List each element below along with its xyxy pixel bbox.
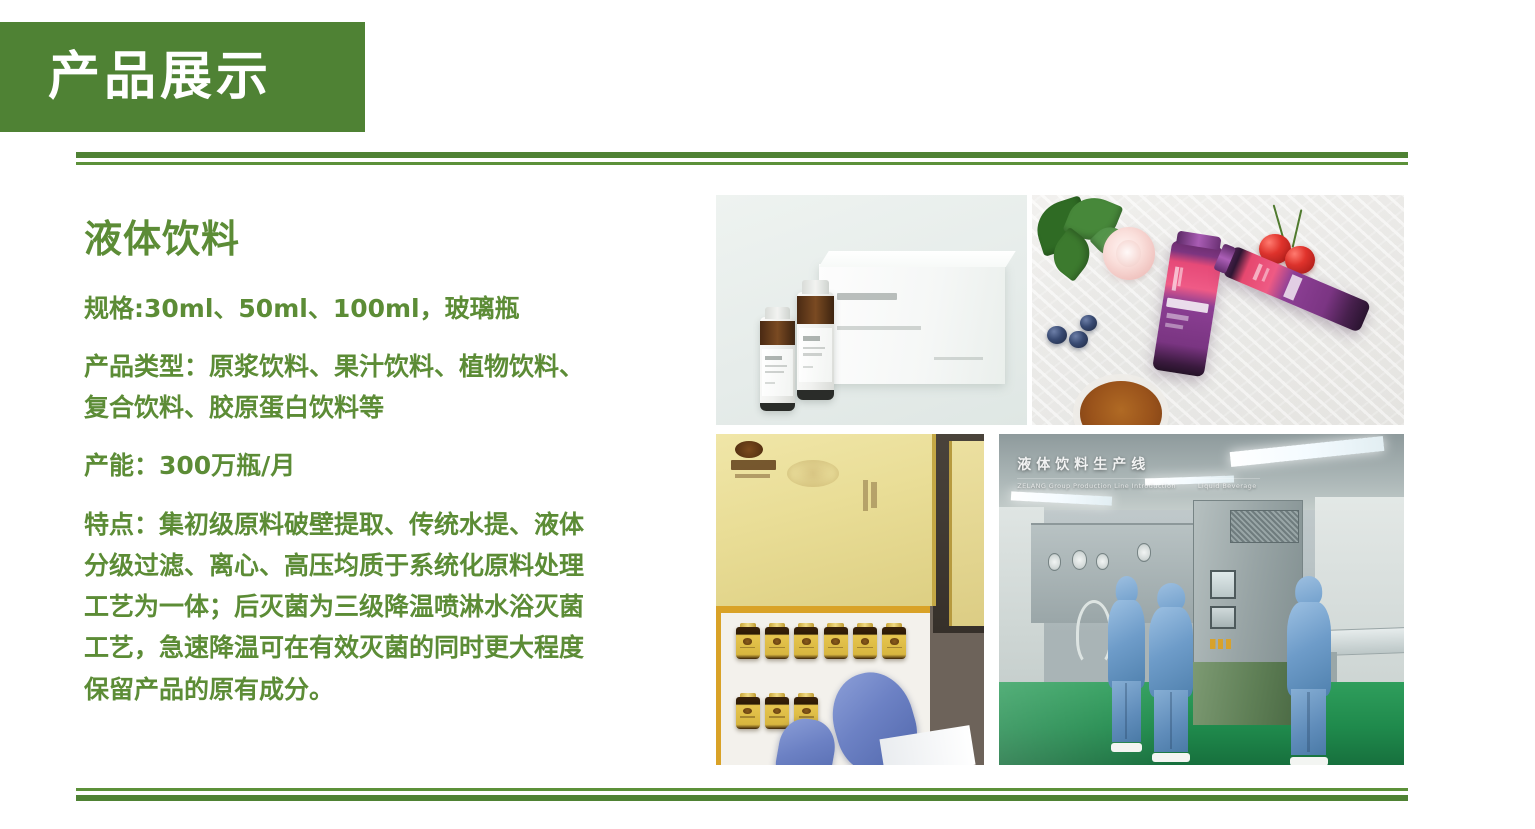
gold-bottle — [824, 627, 848, 659]
bottle-cap — [886, 623, 902, 628]
white-gift-box — [819, 264, 1006, 384]
worker-in-coverall — [1287, 576, 1332, 758]
overlay-divider-rule — [1017, 478, 1260, 479]
worker-in-coverall — [1149, 583, 1194, 755]
bottle-base — [760, 403, 796, 411]
label-dosage-band — [1283, 275, 1302, 302]
blueberry — [1080, 315, 1097, 331]
divider-top — [76, 152, 1408, 165]
pink-rose — [1103, 227, 1155, 280]
label-text-block — [1167, 314, 1189, 322]
worker-torso — [1149, 607, 1194, 696]
giftbox-inspection-photo — [716, 434, 984, 765]
collagen-drink-photo — [1032, 195, 1404, 425]
vertical-text-column — [871, 482, 876, 508]
bottle-seal-icon — [802, 708, 811, 714]
gold-bottle — [882, 627, 906, 659]
spec-line-capacity: 产能：300万瓶/月 — [84, 445, 584, 486]
worker-torso — [1287, 602, 1332, 697]
brand-name-mark — [731, 460, 776, 470]
worker-legs — [1154, 690, 1189, 752]
bottle-cap — [765, 307, 791, 319]
bottle-cap — [740, 693, 756, 698]
bottle-cap — [740, 623, 756, 628]
bottle-label-line — [769, 716, 784, 718]
box-brand-mark — [837, 293, 897, 300]
label-text-block — [1261, 268, 1270, 282]
worker-shoes — [1290, 757, 1327, 765]
label-line-1 — [803, 336, 820, 341]
bottle-liquid — [797, 296, 834, 324]
bottle-seal-icon — [743, 638, 752, 644]
gold-bottle — [765, 627, 789, 659]
production-line-overlay-subtitle: ZELANG Group Production Line Introductio… — [1017, 482, 1256, 490]
header-banner: 产品展示 — [0, 22, 365, 132]
bottle-seal-icon — [890, 638, 899, 644]
bottle-cap — [769, 693, 785, 698]
pressure-gauge — [1137, 543, 1152, 562]
label-dosage-band — [1166, 298, 1209, 314]
label-line-2 — [765, 365, 786, 367]
brown-bottle-left — [760, 317, 796, 411]
product-showcase-slide: 产品展示 液体饮料 规格:30ml、50ml、100ml，玻璃瓶 产品类型：原浆… — [0, 0, 1535, 829]
worker-legs — [1112, 681, 1140, 742]
spec-line-specification: 规格:30ml、50ml、100ml，玻璃瓶 — [84, 288, 584, 329]
bottle-label-line — [740, 647, 755, 649]
worker-shoes — [1111, 743, 1142, 751]
spec-line-features: 特点：集初级原料破壁提取、传统水提、液体分级过滤、离心、高压均质于系统化原料处理… — [84, 504, 584, 710]
brand-logo-icon — [735, 441, 763, 458]
label-text-block — [1165, 323, 1183, 330]
page-title: 产品展示 — [0, 51, 272, 103]
section-heading: 液体饮料 — [84, 218, 584, 262]
bottle-cap — [798, 693, 814, 698]
worker-in-coverall — [1108, 576, 1144, 745]
divider-bottom-thick-rule — [76, 795, 1408, 801]
embossed-medallion — [787, 460, 839, 488]
bottle-seal-icon — [831, 638, 840, 644]
machine-secondary-screen — [1210, 606, 1236, 629]
label-line-4 — [803, 366, 813, 368]
label-line-3 — [803, 353, 822, 356]
brand-subtext — [735, 474, 770, 478]
giftbox-lid — [716, 434, 936, 606]
bottle-cap — [802, 280, 829, 294]
secondary-box-lid — [949, 441, 984, 626]
label-line-3 — [765, 371, 783, 373]
bottle-seal-icon — [743, 708, 752, 714]
overlay-subtitle-category: Liquid Beverage — [1198, 482, 1257, 490]
pressure-gauge — [1096, 553, 1109, 570]
label-line-4 — [765, 382, 774, 384]
bottle-seal-icon — [773, 638, 782, 644]
bottle-label-line — [887, 647, 902, 649]
vertical-text-column — [863, 480, 868, 511]
blueberry — [1069, 331, 1088, 348]
production-line-photo: 液体饮料生产线 ZELANG Group Production Line Int… — [999, 434, 1404, 765]
bottle-label — [762, 349, 793, 396]
bottle-label-line — [799, 647, 814, 649]
bottle-label — [799, 328, 832, 382]
bottle-label-line — [740, 716, 755, 718]
product-text-column: 液体饮料 规格:30ml、50ml、100ml，玻璃瓶 产品类型：原浆饮料、果汁… — [84, 218, 584, 710]
gold-bottle — [853, 627, 877, 659]
bottle-cap — [798, 623, 814, 628]
bottle-cap — [857, 623, 873, 628]
bottle-label-line — [769, 647, 784, 649]
box-subtext — [837, 326, 921, 330]
gold-bottle — [736, 697, 760, 729]
spec-line-product-types: 产品类型：原浆饮料、果汁饮料、植物饮料、复合饮料、胶原蛋白饮料等 — [84, 346, 584, 429]
bottle-label-line — [828, 647, 843, 649]
boxed-bottles-photo — [716, 195, 1027, 425]
bottle-label-line — [857, 647, 872, 649]
bottle-seal-icon — [861, 638, 870, 644]
bottle-seal-icon — [802, 638, 811, 644]
worker-shoes — [1152, 753, 1189, 762]
bottle-base — [797, 390, 834, 400]
label-text-block — [1178, 268, 1183, 287]
label-line-1 — [765, 356, 781, 360]
divider-bottom — [76, 788, 1408, 801]
bottle-liquid — [760, 321, 796, 346]
gold-bottle — [765, 697, 789, 729]
hose-coil — [1076, 600, 1112, 666]
machine-base-green — [1193, 662, 1290, 725]
bottle-cap — [827, 623, 843, 628]
gold-bottle — [794, 627, 818, 659]
pressure-gauge — [1072, 550, 1087, 570]
machine-display-screen — [1210, 570, 1236, 600]
worker-torso — [1108, 600, 1144, 688]
label-line-2 — [803, 347, 825, 350]
worker-legs — [1291, 689, 1326, 755]
brown-bottle-right — [797, 292, 834, 400]
divider-top-thin-rule — [76, 162, 1408, 165]
machine-button-row — [1210, 639, 1234, 649]
gold-bottle — [736, 627, 760, 659]
bottle-seal-icon — [773, 708, 782, 714]
bottle-cap — [769, 623, 785, 628]
production-line-overlay-title: 液体饮料生产线 — [1017, 454, 1150, 474]
box-footer-text — [934, 357, 983, 360]
overlay-subtitle-company: ZELANG Group Production Line Introductio… — [1017, 482, 1176, 490]
machine-vent-grille — [1230, 510, 1299, 543]
